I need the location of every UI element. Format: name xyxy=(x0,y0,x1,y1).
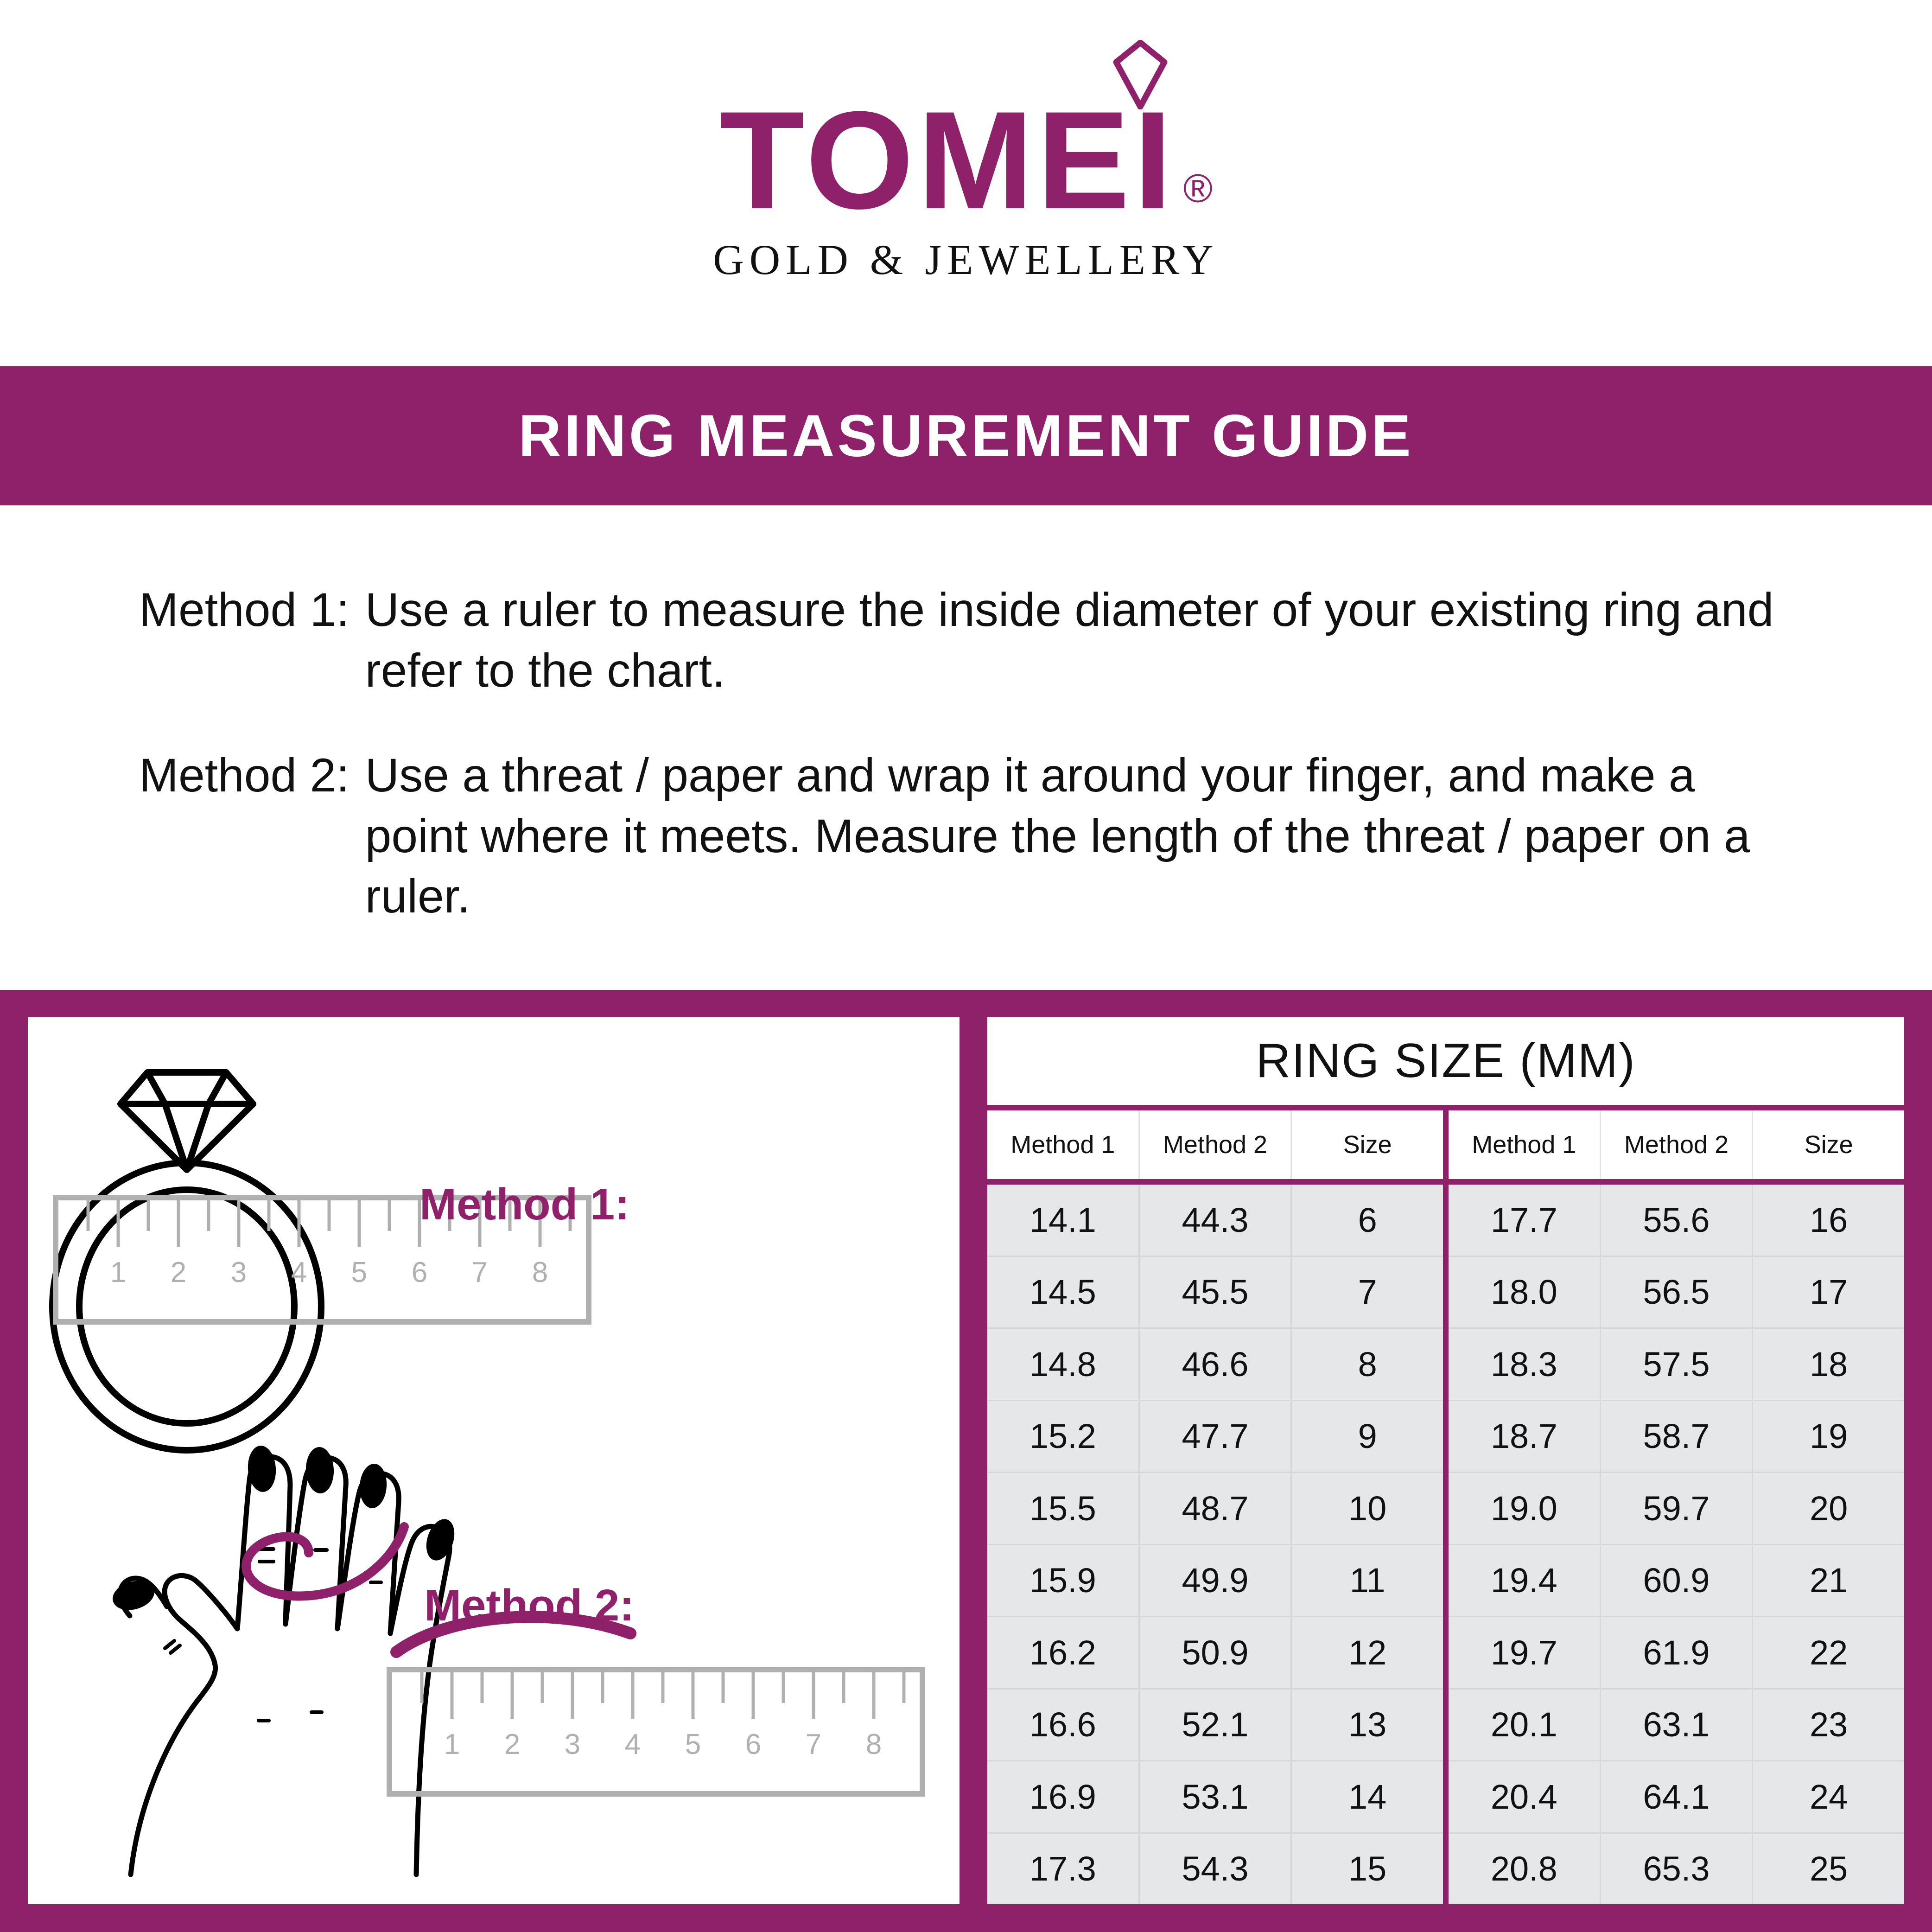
table-left-half: Method 1 Method 2 Size 14.144.36 14.545.… xyxy=(987,1110,1443,1904)
table-row: 20.865.325 xyxy=(1449,1834,1904,1905)
table-row: 16.652.113 xyxy=(987,1690,1443,1762)
cell-method-1: 15.9 xyxy=(987,1545,1140,1616)
cell-size: 22 xyxy=(1753,1617,1904,1688)
cell-method-2: 47.7 xyxy=(1140,1401,1292,1472)
cell-method-1: 18.3 xyxy=(1449,1329,1601,1400)
logo-tagline: GOLD & JEWELLERY xyxy=(713,235,1219,284)
cell-size: 18 xyxy=(1753,1329,1904,1400)
cell-size: 24 xyxy=(1753,1761,1904,1832)
bottom-section: 1 2 3 4 5 6 7 8 xyxy=(0,990,1932,1932)
cell-method-1: 15.5 xyxy=(987,1473,1140,1544)
column-header-method-1: Method 1 xyxy=(987,1110,1140,1179)
cell-size: 11 xyxy=(1292,1545,1443,1616)
cell-method-2: 64.1 xyxy=(1601,1761,1754,1832)
svg-text:8: 8 xyxy=(532,1256,548,1288)
method-1-text: Use a ruler to measure the inside diamet… xyxy=(365,580,1793,701)
svg-text:3: 3 xyxy=(231,1256,247,1288)
column-header-method-1: Method 1 xyxy=(1449,1110,1601,1179)
cell-method-2: 59.7 xyxy=(1601,1473,1754,1544)
svg-text:5: 5 xyxy=(685,1728,701,1760)
cell-size: 10 xyxy=(1292,1473,1443,1544)
table-row: 16.250.912 xyxy=(987,1617,1443,1690)
cell-size: 16 xyxy=(1753,1185,1904,1256)
cell-size: 13 xyxy=(1292,1690,1443,1760)
table-body-left: 14.144.36 14.545.57 14.846.68 15.247.79 … xyxy=(987,1185,1443,1904)
method-2-illustration-label: Method 2: xyxy=(424,1580,634,1631)
cell-method-2: 52.1 xyxy=(1140,1690,1292,1760)
cell-method-2: 53.1 xyxy=(1140,1761,1292,1832)
table-row: 14.545.57 xyxy=(987,1257,1443,1329)
column-header-size: Size xyxy=(1753,1110,1904,1179)
table-row: 20.464.124 xyxy=(1449,1761,1904,1834)
method-2-text: Use a threat / paper and wrap it around … xyxy=(365,745,1793,927)
cell-size: 7 xyxy=(1292,1257,1443,1328)
cell-method-1: 18.7 xyxy=(1449,1401,1601,1472)
cell-method-1: 19.0 xyxy=(1449,1473,1601,1544)
cell-method-1: 19.7 xyxy=(1449,1617,1601,1688)
cell-size: 21 xyxy=(1753,1545,1904,1616)
cell-size: 17 xyxy=(1753,1257,1904,1328)
cell-method-2: 63.1 xyxy=(1601,1690,1754,1760)
cell-method-1: 18.0 xyxy=(1449,1257,1601,1328)
registered-mark: ® xyxy=(1183,172,1213,205)
column-header-method-2: Method 2 xyxy=(1601,1110,1754,1179)
table-row: 18.357.518 xyxy=(1449,1329,1904,1401)
column-header-size: Size xyxy=(1292,1110,1443,1179)
cell-method-2: 56.5 xyxy=(1601,1257,1754,1328)
svg-text:6: 6 xyxy=(412,1256,427,1288)
table-row: 14.846.68 xyxy=(987,1329,1443,1401)
method-1-paragraph: Method 1: Use a ruler to measure the ins… xyxy=(139,580,1802,701)
table-row: 18.056.517 xyxy=(1449,1257,1904,1329)
methods-section: Method 1: Use a ruler to measure the ins… xyxy=(0,505,1932,992)
svg-text:5: 5 xyxy=(351,1256,367,1288)
table-title-bar: RING SIZE (MM) xyxy=(987,1017,1904,1105)
table-row: 14.144.36 xyxy=(987,1185,1443,1257)
table-right-half: Method 1 Method 2 Size 17.755.616 18.056… xyxy=(1449,1110,1904,1904)
diamond-icon xyxy=(1112,40,1168,109)
cell-method-1: 17.7 xyxy=(1449,1185,1601,1256)
svg-text:2: 2 xyxy=(171,1256,186,1288)
table-row: 18.758.719 xyxy=(1449,1401,1904,1473)
cell-size: 25 xyxy=(1753,1834,1904,1905)
table-row: 15.949.911 xyxy=(987,1545,1443,1618)
cell-method-2: 57.5 xyxy=(1601,1329,1754,1400)
cell-method-2: 45.5 xyxy=(1140,1257,1292,1328)
page-title-banner: RING MEASUREMENT GUIDE xyxy=(0,366,1932,505)
cell-method-2: 54.3 xyxy=(1140,1834,1292,1905)
table-header-row-left: Method 1 Method 2 Size xyxy=(987,1110,1443,1179)
cell-size: 12 xyxy=(1292,1617,1443,1688)
method-1-illustration-label: Method 1: xyxy=(419,1179,629,1230)
diamond-ring-icon xyxy=(52,1072,321,1450)
table-body-right: 17.755.616 18.056.517 18.357.518 18.758.… xyxy=(1449,1185,1904,1904)
cell-size: 8 xyxy=(1292,1329,1443,1400)
ring-size-table-panel: RING SIZE (MM) Method 1 Method 2 Size 14… xyxy=(987,1017,1904,1904)
page-title: RING MEASUREMENT GUIDE xyxy=(518,402,1413,470)
hand-icon xyxy=(120,1457,450,1875)
svg-text:7: 7 xyxy=(472,1256,488,1288)
svg-text:4: 4 xyxy=(291,1256,307,1288)
cell-method-1: 16.2 xyxy=(987,1617,1140,1688)
cell-method-2: 48.7 xyxy=(1140,1473,1292,1544)
cell-method-1: 17.3 xyxy=(987,1834,1140,1905)
cell-method-2: 46.6 xyxy=(1140,1329,1292,1400)
cell-method-1: 14.1 xyxy=(987,1185,1140,1256)
svg-text:8: 8 xyxy=(866,1728,882,1760)
cell-method-2: 50.9 xyxy=(1140,1617,1292,1688)
cell-method-2: 58.7 xyxy=(1601,1401,1754,1472)
logo-wordmark: TOMEI ® xyxy=(719,101,1213,219)
cell-method-2: 49.9 xyxy=(1140,1545,1292,1616)
cell-method-1: 16.6 xyxy=(987,1690,1140,1760)
cell-method-1: 19.4 xyxy=(1449,1545,1601,1616)
logo-text: TOMEI xyxy=(719,101,1176,219)
illustration-panel: 1 2 3 4 5 6 7 8 xyxy=(28,1017,960,1904)
method-1-label: Method 1: xyxy=(139,580,365,640)
table-row: 15.548.710 xyxy=(987,1473,1443,1545)
table-row: 15.247.79 xyxy=(987,1401,1443,1473)
table-row: 19.761.922 xyxy=(1449,1617,1904,1690)
illustration-svg: 1 2 3 4 5 6 7 8 xyxy=(28,1017,960,1904)
cell-method-2: 44.3 xyxy=(1140,1185,1292,1256)
brand-logo: TOMEI ® GOLD & JEWELLERY xyxy=(0,0,1932,366)
cell-method-1: 15.2 xyxy=(987,1401,1140,1472)
method-2-paragraph: Method 2: Use a threat / paper and wrap … xyxy=(139,745,1802,927)
cell-size: 9 xyxy=(1292,1401,1443,1472)
cell-size: 19 xyxy=(1753,1401,1904,1472)
table-header-row-right: Method 1 Method 2 Size xyxy=(1449,1110,1904,1179)
cell-method-1: 14.5 xyxy=(987,1257,1140,1328)
cell-size: 14 xyxy=(1292,1761,1443,1832)
table-row: 17.354.315 xyxy=(987,1834,1443,1905)
method-2-label: Method 2: xyxy=(139,745,365,806)
cell-method-2: 61.9 xyxy=(1601,1617,1754,1688)
cell-method-1: 20.8 xyxy=(1449,1834,1601,1905)
svg-text:1: 1 xyxy=(444,1728,460,1760)
cell-method-1: 20.4 xyxy=(1449,1761,1601,1832)
table-row: 17.755.616 xyxy=(1449,1185,1904,1257)
svg-text:6: 6 xyxy=(745,1728,761,1760)
ruler-icon-2: 1 2 3 4 5 6 7 8 xyxy=(389,1670,922,1794)
cell-method-2: 55.6 xyxy=(1601,1185,1754,1256)
svg-text:1: 1 xyxy=(110,1256,126,1288)
table-row: 19.460.921 xyxy=(1449,1545,1904,1618)
table-grid: Method 1 Method 2 Size 14.144.36 14.545.… xyxy=(987,1110,1904,1904)
svg-text:2: 2 xyxy=(504,1728,520,1760)
cell-size: 15 xyxy=(1292,1834,1443,1905)
cell-size: 20 xyxy=(1753,1473,1904,1544)
cell-method-1: 14.8 xyxy=(987,1329,1140,1400)
cell-method-1: 20.1 xyxy=(1449,1690,1601,1760)
table-row: 16.953.114 xyxy=(987,1761,1443,1834)
table-title: RING SIZE (MM) xyxy=(1256,1033,1635,1089)
cell-method-2: 60.9 xyxy=(1601,1545,1754,1616)
svg-text:3: 3 xyxy=(565,1728,580,1760)
table-row: 19.059.720 xyxy=(1449,1473,1904,1545)
svg-text:7: 7 xyxy=(806,1728,821,1760)
column-header-method-2: Method 2 xyxy=(1140,1110,1292,1179)
cell-size: 23 xyxy=(1753,1690,1904,1760)
cell-method-1: 16.9 xyxy=(987,1761,1140,1832)
table-row: 20.163.123 xyxy=(1449,1690,1904,1762)
cell-method-2: 65.3 xyxy=(1601,1834,1754,1905)
svg-text:4: 4 xyxy=(625,1728,641,1760)
cell-size: 6 xyxy=(1292,1185,1443,1256)
